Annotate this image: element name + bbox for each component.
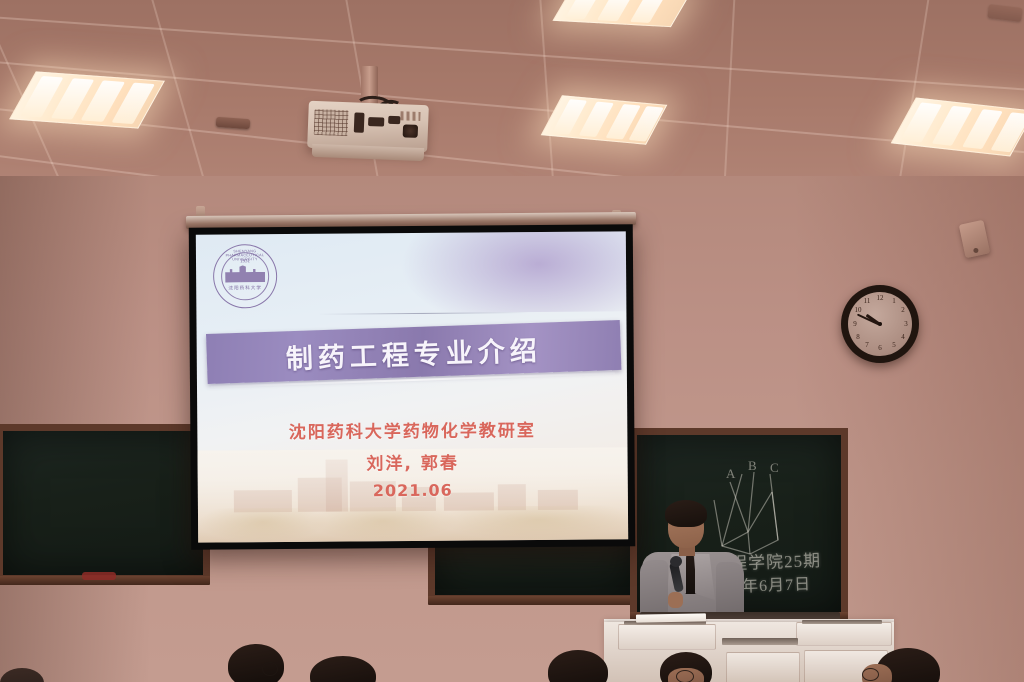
podium-drawer-right[interactable] (796, 622, 892, 646)
clock-center-pin (878, 322, 882, 326)
projector-controls (400, 111, 420, 121)
audience-glasses-5 (862, 668, 879, 681)
projection-screen: SHENYANG PHARMACEUTICAL UNIVERSITY 1931 … (196, 231, 628, 542)
clock-numeral: 9 (850, 320, 860, 328)
clock-numeral: 7 (862, 341, 872, 349)
audience-glasses-4 (676, 670, 694, 682)
projection-screen-frame: SHENYANG PHARMACEUTICAL UNIVERSITY 1931 … (189, 224, 636, 549)
slide-subtitle-date: 2021.06 (198, 479, 628, 501)
university-seal: SHENYANG PHARMACEUTICAL UNIVERSITY 1931 … (213, 244, 278, 309)
slide-subtitle-organization: 沈阳药科大学药物化学教研室 (197, 415, 627, 443)
clock-numeral: 6 (875, 344, 885, 352)
presenter-hair (665, 500, 707, 527)
projector-lens (403, 124, 418, 138)
projector-vent (314, 109, 349, 136)
podium-slot-right (802, 620, 882, 624)
slide-subtitle-authors: 刘洋, 郭春 (197, 447, 627, 475)
clock-numeral: 8 (853, 333, 863, 341)
chalk-eraser (82, 572, 116, 580)
lecture-hall-photo: 12 1 2 3 4 5 6 7 8 9 10 11 (0, 0, 1024, 682)
clock-numeral: 1 (889, 297, 899, 305)
clock-numeral: 11 (862, 297, 872, 305)
clock-numeral: 5 (889, 341, 899, 349)
clock-numeral: 4 (898, 333, 908, 341)
chalk-tray-center (428, 596, 638, 605)
podium-papers (636, 613, 706, 622)
clock-numeral: 2 (898, 306, 908, 314)
slide-divider-rule (318, 312, 528, 315)
seal-bottom-text: 沈阳药科大学 (214, 285, 276, 291)
lectern-console (604, 622, 894, 682)
clock-face: 12 1 2 3 4 5 6 7 8 9 10 11 (848, 292, 912, 356)
wall-clock: 12 1 2 3 4 5 6 7 8 9 10 11 (841, 285, 919, 363)
blackboard-left (0, 424, 210, 582)
slide-purple-glow (395, 231, 628, 313)
podium-center-rail (722, 638, 798, 645)
audience-glasses-1 (262, 662, 278, 676)
ceiling-light-1 (9, 71, 165, 128)
presenter-hand (668, 592, 683, 608)
clock-numeral: 12 (875, 294, 885, 302)
speaker-mount-dot (973, 247, 979, 253)
slide-title: 制药工程专业介绍 (285, 328, 542, 376)
podium-cabinet-panel-left[interactable] (726, 652, 800, 682)
clock-numeral: 3 (901, 320, 911, 328)
podium-drawer-left[interactable] (618, 624, 716, 650)
seal-year: 1931 (214, 259, 276, 264)
